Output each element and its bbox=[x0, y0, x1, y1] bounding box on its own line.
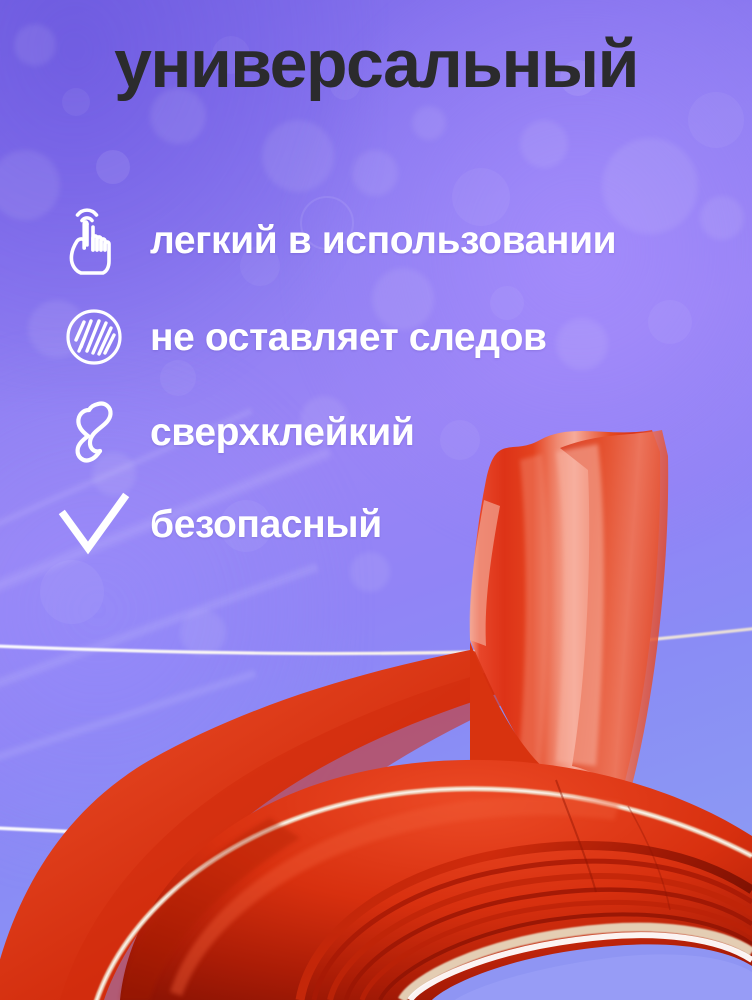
checkmark-icon bbox=[58, 488, 130, 560]
feature-label: безопасный bbox=[150, 505, 382, 544]
feature-label: не оставляет следов bbox=[150, 318, 547, 357]
chain-link-icon bbox=[58, 396, 130, 468]
product-banner: универсальный лег bbox=[0, 0, 752, 1000]
feature-item-safe: безопасный bbox=[58, 478, 748, 570]
feature-item-easy-to-use: легкий в использовании bbox=[58, 192, 748, 288]
no-residue-circle-icon bbox=[58, 301, 130, 373]
feature-label: сверхклейкий bbox=[150, 413, 414, 452]
tap-hand-icon bbox=[58, 204, 130, 276]
feature-list: легкий в использовании не о bbox=[58, 192, 748, 570]
feature-label: легкий в использовании bbox=[150, 221, 616, 260]
feature-item-no-residue: не оставляет следов bbox=[58, 288, 748, 386]
feature-item-super-sticky: сверхклейкий bbox=[58, 386, 748, 478]
page-title: универсальный bbox=[0, 30, 752, 98]
